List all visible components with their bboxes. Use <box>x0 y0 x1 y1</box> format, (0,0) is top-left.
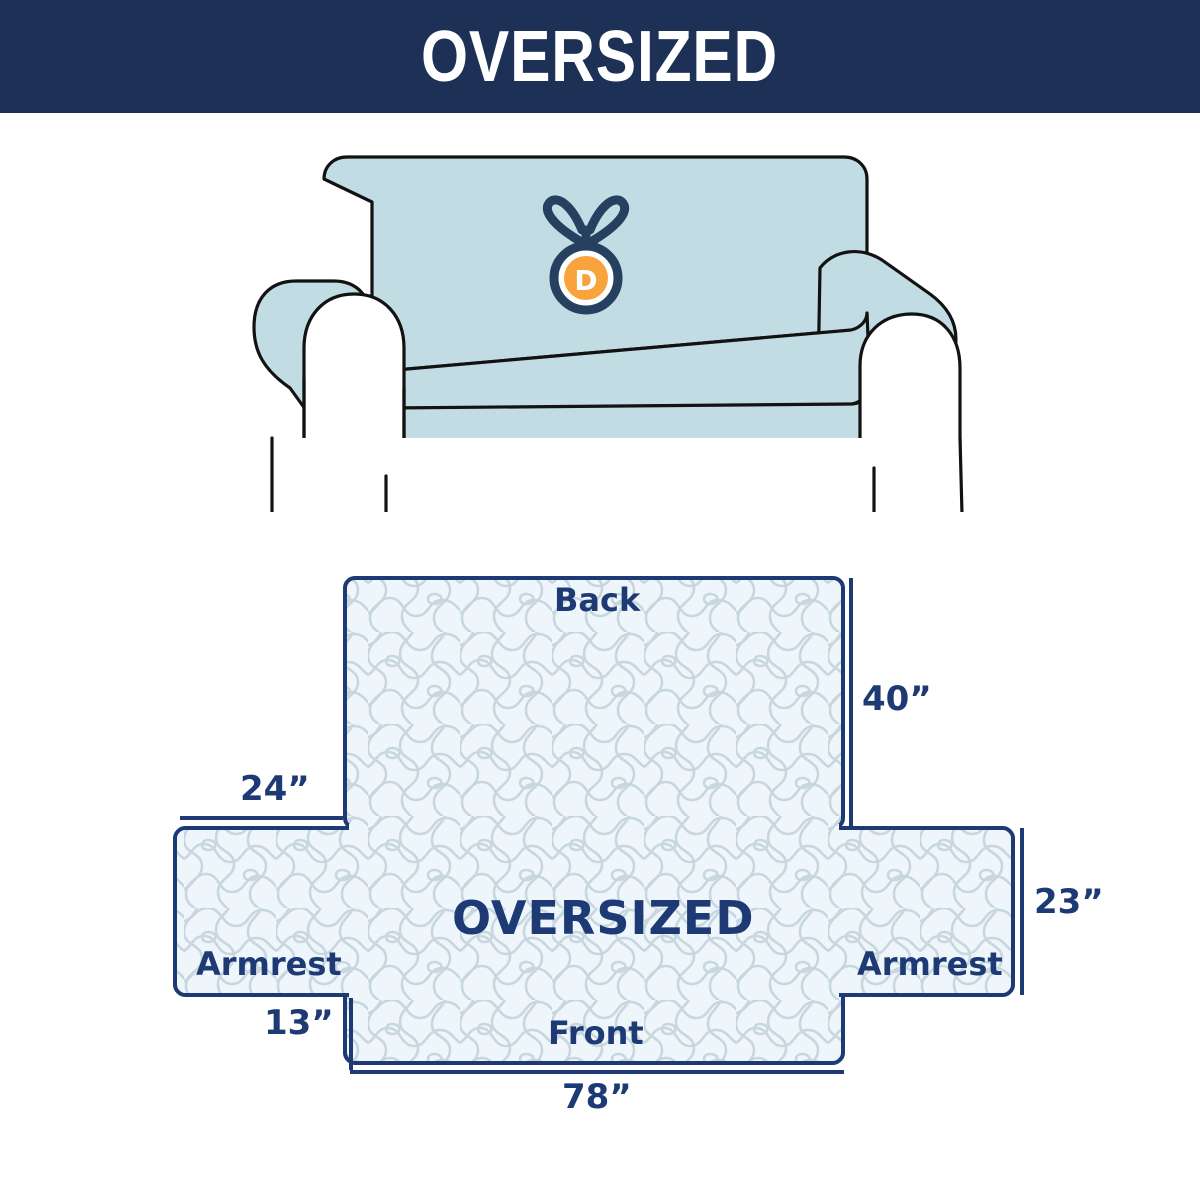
dim-label-width: 78” <box>562 1080 632 1114</box>
panel-label-front: Front <box>548 1017 644 1049</box>
dim-label-back-depth: 24” <box>240 772 310 806</box>
seam-band-to-front <box>349 991 839 1001</box>
sofa-illustration: D <box>248 138 972 512</box>
diagram-center-label: OVERSIZED <box>452 895 755 941</box>
dim-label-front-drop: 13” <box>264 1006 334 1040</box>
panel-label-back: Back <box>554 584 640 616</box>
logo-letter: D <box>574 264 597 297</box>
flat-layout-diagram: Back OVERSIZED Armrest Armrest Front 24”… <box>0 540 1200 1120</box>
sofa-skirt <box>272 438 964 512</box>
panel-label-armrest-right: Armrest <box>857 948 1003 980</box>
seam-back-to-band <box>349 824 839 834</box>
sofa-drawing: D <box>248 138 972 512</box>
page-title: OVERSIZED <box>421 21 778 93</box>
dim-label-back-height: 40” <box>862 682 932 716</box>
header-banner: OVERSIZED <box>0 0 1200 113</box>
dim-label-armrest-height: 23” <box>1034 885 1104 919</box>
panel-label-armrest-left: Armrest <box>196 948 342 980</box>
